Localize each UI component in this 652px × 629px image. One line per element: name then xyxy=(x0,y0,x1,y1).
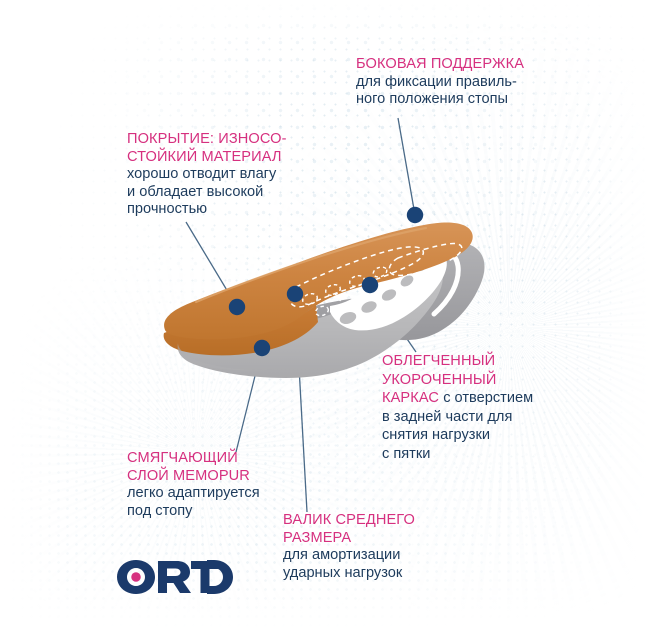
callout-title-medium-pad: ВАЛИК СРЕДНЕГО РАЗМЕРА xyxy=(283,512,473,547)
callout-body-medium-pad: для амортизации ударных нагрузок xyxy=(283,547,473,582)
callout-title-lateral-support: БОКОВАЯ ПОДДЕРЖКА xyxy=(356,56,546,74)
callout-medium-pad: ВАЛИК СРЕДНЕГО РАЗМЕРА для амортизации у… xyxy=(283,512,473,582)
callout-lightweight-frame: ОБЛЕГЧЕННЫЙ УКОРОЧЕННЫЙ КАРКАС с отверст… xyxy=(382,352,582,464)
callout-lateral-support: БОКОВАЯ ПОДДЕРЖКА для фиксации правиль- … xyxy=(356,56,546,109)
callout-marker-medium-pad[interactable] xyxy=(287,286,303,302)
insole-infographic: БОКОВАЯ ПОДДЕРЖКА для фиксации правиль- … xyxy=(0,0,652,629)
callout-body-cover-material: хорошо отводит влагу и обладает высокой … xyxy=(127,166,327,219)
callout-marker-lightweight-frame[interactable] xyxy=(362,277,378,293)
callout-body-lateral-support: для фиксации правиль- ного положения сто… xyxy=(356,74,546,109)
callout-marker-lateral-support[interactable] xyxy=(407,207,423,223)
callout-title-cover-material: ПОКРЫТИЕ: ИЗНОСО- СТОЙКИЙ МАТЕРИАЛ xyxy=(127,131,327,166)
orto-logo-dot xyxy=(131,572,141,582)
callout-marker-memopur-layer[interactable] xyxy=(254,340,270,356)
callout-title-memopur-layer: СМЯГЧАЮЩИЙ СЛОЙ MEMOPUR xyxy=(127,450,317,485)
orto-logo-wordmark xyxy=(117,560,233,594)
callout-marker-cover-material[interactable] xyxy=(229,299,245,315)
callout-cover-material: ПОКРЫТИЕ: ИЗНОСО- СТОЙКИЙ МАТЕРИАЛ хорош… xyxy=(127,131,327,219)
callout-memopur-layer: СМЯГЧАЮЩИЙ СЛОЙ MEMOPUR легко адаптирует… xyxy=(127,450,317,520)
leader-line-lateral-support xyxy=(398,118,415,215)
orto-logo xyxy=(116,557,234,597)
